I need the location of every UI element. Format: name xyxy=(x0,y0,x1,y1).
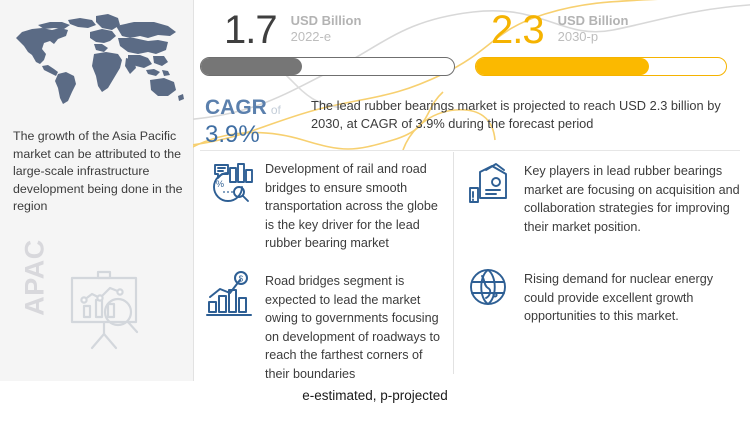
stat-2030-bar-fill xyxy=(476,58,649,75)
stat-2030: 2.3 USD Billion 2030-p xyxy=(475,8,728,54)
stat-2030-value: 2.3 xyxy=(491,8,544,52)
bullet-item: % Development of rail and road bridges t… xyxy=(203,160,448,253)
headline-text: The lead rubber bearings market is proje… xyxy=(311,97,731,133)
apac-watermark: APAC xyxy=(20,238,51,318)
svg-text:%: % xyxy=(216,179,224,189)
world-map xyxy=(8,8,186,108)
stat-2022: 1.7 USD Billion 2022-e xyxy=(200,8,456,54)
bullet-item: Rising demand for nuclear energy could p… xyxy=(462,262,744,326)
cagr-label: CAGR xyxy=(205,96,267,119)
stat-2030-meta: USD Billion 2030-p xyxy=(558,8,629,44)
bar-chart-growth-dollar-icon: $ xyxy=(203,268,255,320)
pie-chart-magnifier-icon: % xyxy=(203,160,255,212)
left-panel-description: The growth of the Asia Pacific market ca… xyxy=(13,128,185,216)
divider-vertical-left xyxy=(193,0,194,381)
svg-text:$: $ xyxy=(239,274,244,283)
presentation-chart-search-icon xyxy=(58,262,150,354)
bullet-text: Road bridges segment is expected to lead… xyxy=(265,268,448,381)
stat-2022-bar-track xyxy=(200,57,455,76)
divider-vertical-mid xyxy=(453,152,454,374)
cagr-block: CAGRof 3.9% xyxy=(205,96,310,148)
infographic-card: The growth of the Asia Pacific market ca… xyxy=(0,0,750,381)
stat-2022-meta: USD Billion 2022-e xyxy=(291,8,362,44)
footer-note: e-estimated, p-projected xyxy=(0,388,750,403)
stat-2030-unit: USD Billion xyxy=(558,13,629,29)
bullet-item: Key players in lead rubber bearings mark… xyxy=(462,160,744,236)
bullet-text: Key players in lead rubber bearings mark… xyxy=(524,160,744,236)
stat-2022-value: 1.7 xyxy=(224,8,277,52)
left-panel: The growth of the Asia Pacific market ca… xyxy=(0,0,193,381)
stat-2022-year: 2022-e xyxy=(291,29,362,45)
hand-holding-money-icon xyxy=(462,160,514,212)
stat-2030-bar-track xyxy=(475,57,727,76)
globe-icon xyxy=(462,262,514,314)
bullet-item: $ Road bridges segment is expected to le… xyxy=(203,268,448,381)
stat-2030-year: 2030-p xyxy=(558,29,629,45)
cagr-value: 3.9% xyxy=(205,122,310,148)
stat-2022-unit: USD Billion xyxy=(291,13,362,29)
divider-horizontal-top xyxy=(200,150,740,151)
stat-2022-bar-fill xyxy=(201,58,302,75)
bullet-text: Rising demand for nuclear energy could p… xyxy=(524,262,744,326)
cagr-label-row: CAGRof xyxy=(205,96,310,122)
cagr-of-label: of xyxy=(271,103,281,117)
bullet-text: Development of rail and road bridges to … xyxy=(265,160,448,253)
